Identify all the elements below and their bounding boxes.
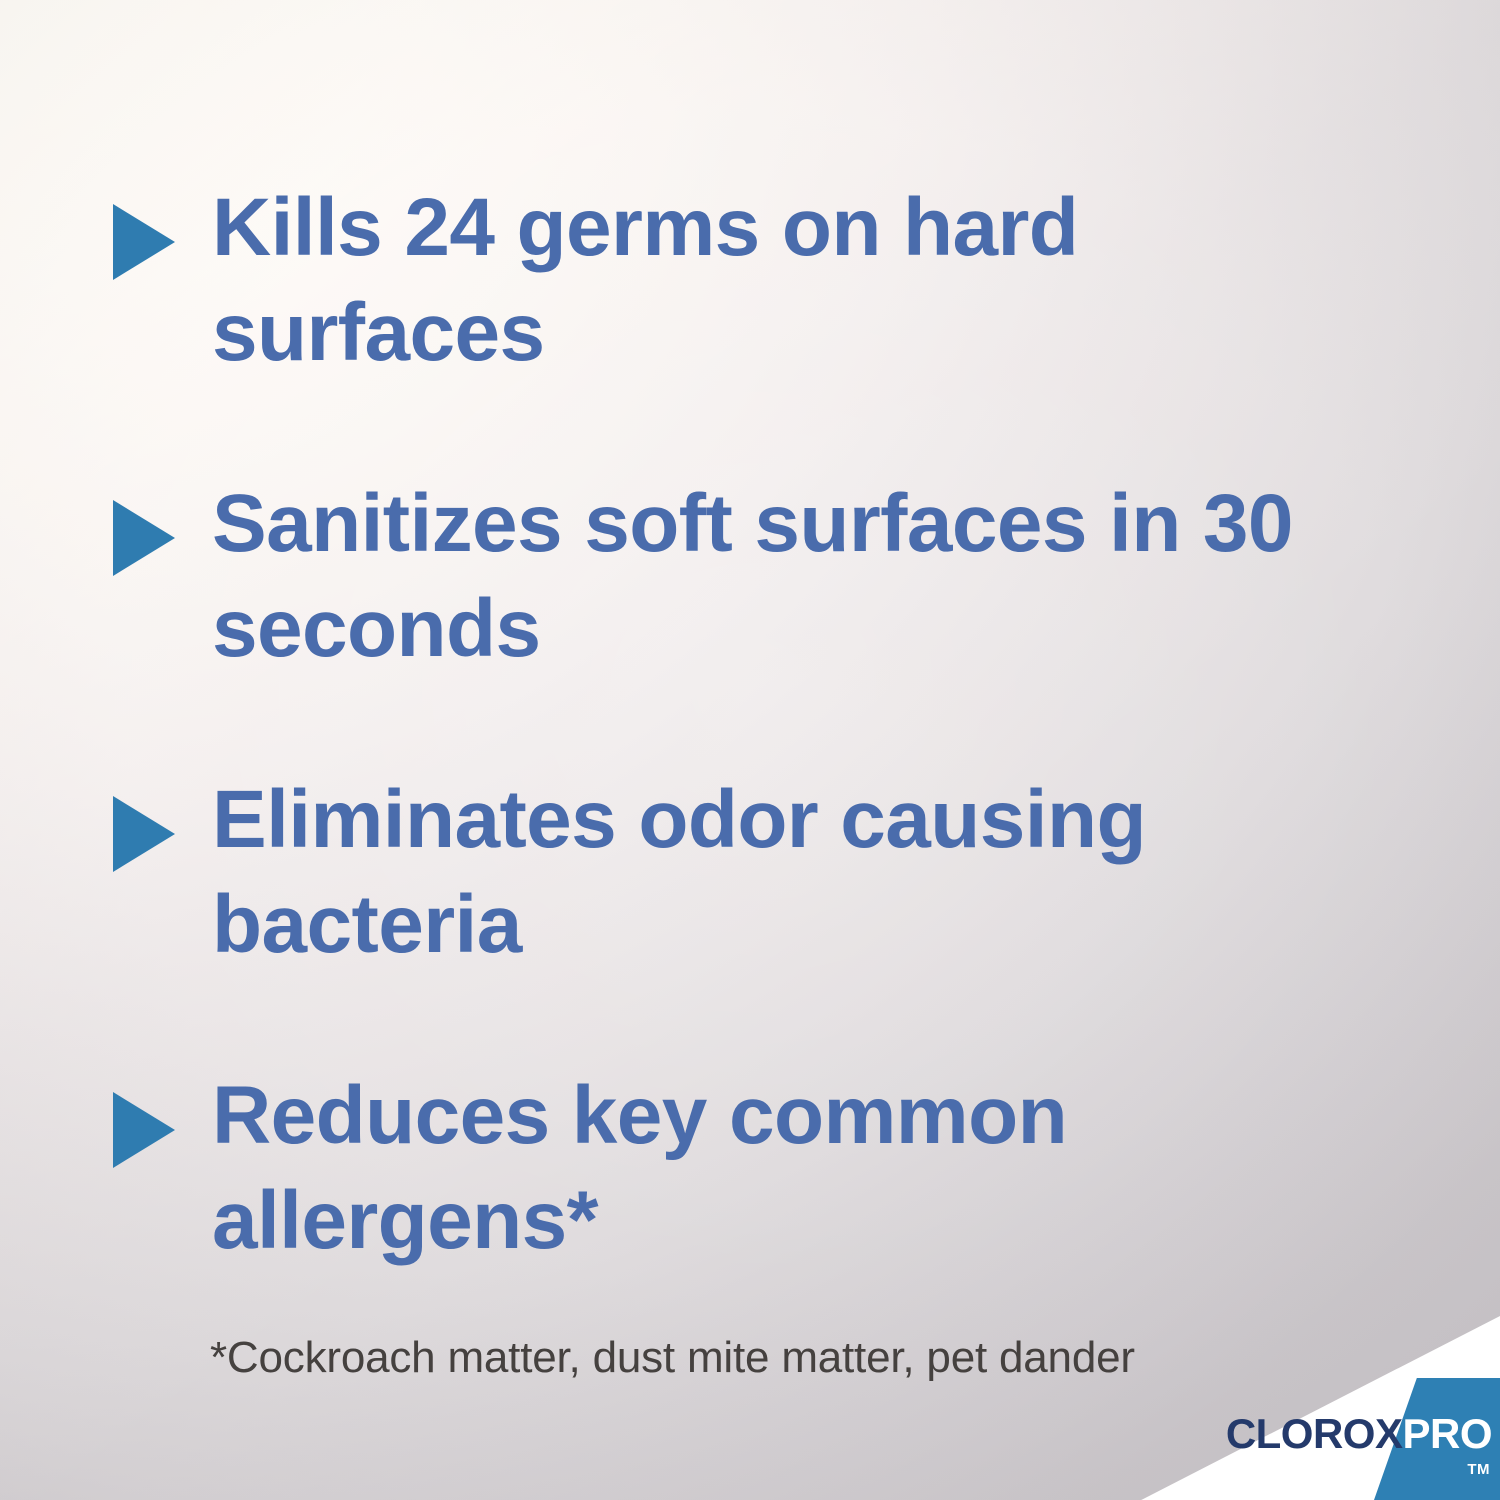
benefit-text: Sanitizes soft surfaces in 30 seconds	[212, 472, 1332, 682]
triangle-right-icon	[113, 796, 175, 872]
benefit-item: Eliminates odor causing bacteria	[113, 768, 1413, 978]
brand-name-clorox: CLOROX	[1226, 1410, 1403, 1458]
brand-name-pro: PRO	[1402, 1410, 1492, 1458]
benefit-item: Reduces key common allergens*	[113, 1064, 1413, 1274]
triangle-right-icon	[113, 500, 175, 576]
promotional-graphic: Kills 24 germs on hard surfaces Sanitize…	[0, 0, 1500, 1500]
triangle-right-icon	[113, 204, 175, 280]
benefit-item: Kills 24 germs on hard surfaces	[113, 176, 1413, 386]
brand-logo-lockup: CLOROX PRO TM	[1040, 1300, 1500, 1500]
benefits-list: Kills 24 germs on hard surfaces Sanitize…	[113, 176, 1413, 1274]
benefit-text: Eliminates odor causing bacteria	[212, 768, 1332, 978]
trademark-symbol: TM	[1467, 1461, 1490, 1478]
benefit-item: Sanitizes soft surfaces in 30 seconds	[113, 472, 1413, 682]
triangle-right-icon	[113, 1092, 175, 1168]
cloroxpro-wordmark: CLOROX PRO	[1226, 1410, 1492, 1458]
benefit-text: Kills 24 germs on hard surfaces	[212, 176, 1332, 386]
benefit-text: Reduces key common allergens*	[212, 1064, 1332, 1274]
footnote-text: *Cockroach matter, dust mite matter, pet…	[210, 1333, 1135, 1383]
